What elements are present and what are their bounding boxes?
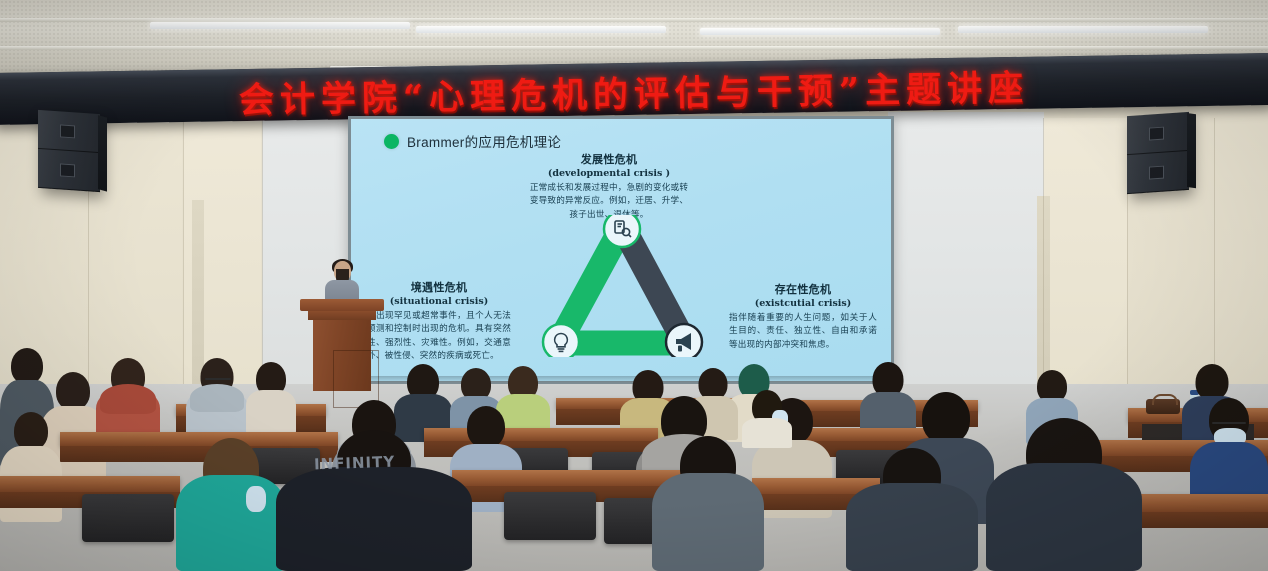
person-torso [652,473,764,571]
podium-neck [308,311,376,320]
ceiling-light-strip [700,28,940,35]
wall-seam [183,120,184,384]
triangle-arm-right [625,231,684,341]
audience-person [652,436,764,571]
glasses-icon [205,378,231,380]
speaker-side-face [1187,113,1196,188]
block-body: 指伴随着重要的人生问题，如关于人生目的、责任、独立性、自由和承诺等出现的内部冲突… [729,312,877,352]
speaker-driver-icon [60,124,75,138]
chair-back [504,492,596,540]
slide-title-row: Brammer的应用危机理论 [384,131,561,151]
ceiling-band [0,46,1268,50]
presentation-slide: Brammer的应用危机理论 发展性危机 (developmental cris… [351,119,891,381]
wall-seam [1043,118,1044,384]
audience-person [186,358,248,442]
wall-speaker-left [38,110,100,192]
jacket-brand-text: INFINITY [314,453,396,474]
triangle-diagram [537,215,707,357]
slide-block-existential: 存在性危机 (existcutial crisis) 指伴随着重要的人生问题，如… [729,281,877,352]
podium [300,299,384,391]
slide-block-developmental: 发展性危机 (developmental crisis ) 正常成长和发展过程中… [529,151,689,222]
slide-block-situational: 境遇性危机 (situational crisis) 当出现罕见或超常事件，且个… [367,279,511,363]
podium-top [300,299,384,311]
person-torso [176,475,286,571]
audience-person [176,438,286,571]
person-torso [276,467,472,571]
person-hood [190,384,245,412]
wall-seam [1214,118,1215,384]
block-heading-english: (situational crisis) [367,296,511,307]
block-heading-english: (existcutial crisis) [729,298,877,309]
projection-screen: Brammer的应用危机理论 发展性危机 (developmental cris… [348,116,894,384]
ceiling-light-strip [416,26,666,33]
speaker-driver-icon [1149,127,1164,141]
face-mask-icon [246,486,266,512]
person-torso [986,463,1142,571]
person-head [922,392,970,444]
person-torso [246,390,296,434]
person-head [14,412,48,450]
person-head [56,372,90,410]
person-head [11,348,43,384]
person-head [467,406,505,448]
wall-seam [262,120,263,384]
block-heading: 存在性危机 [729,281,877,297]
chair-back [82,494,174,542]
ceiling-light-strip [958,26,1208,33]
block-heading-english: (developmental crisis ) [529,168,689,179]
wall-recess-left [192,200,204,384]
speaker-driver-icon [1149,166,1164,180]
podium-body [313,320,371,391]
desk-row-near [0,476,180,492]
triangle-svg [537,215,707,357]
person-torso [846,483,978,571]
ceiling-light-strip [150,22,410,29]
person-hood [100,384,156,414]
audience-person [246,362,296,434]
handbag-handle [1152,394,1178,405]
audience-person [846,448,978,571]
slide-title: Brammer的应用危机理论 [407,131,561,151]
lecture-hall-photo: 会计学院“心理危机的评估与干预”主题讲座 Brammer的应用危机理论 发展性危… [0,0,1268,571]
wall-speaker-right [1127,112,1189,194]
glasses-icon [1212,422,1246,424]
block-heading: 境遇性危机 [367,279,511,295]
block-body: 当出现罕见或超常事件，且个人无法预测和控制时出现的危机。具有突然性、强烈性、灾难… [367,310,511,363]
audience-person [986,418,1142,571]
person-head [1196,364,1229,400]
wall-panel-screen-right [888,112,1044,384]
wall-column-right [1043,118,1127,384]
bullet-circle-icon [384,134,399,149]
block-heading: 发展性危机 [529,151,689,167]
speaker-side-face [98,115,107,192]
audience-person [276,430,472,571]
speaker-driver-icon [60,163,75,177]
